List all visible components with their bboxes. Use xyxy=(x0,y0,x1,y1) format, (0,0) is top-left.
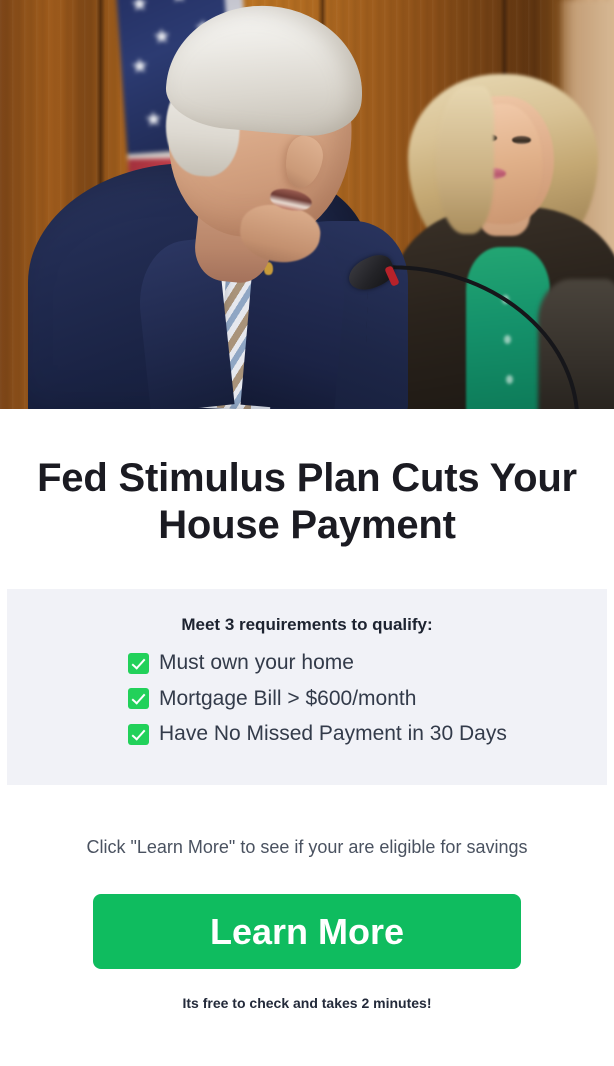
list-item: Must own your home xyxy=(128,649,607,677)
green-check-icon xyxy=(128,724,149,745)
requirement-label: Must own your home xyxy=(159,649,354,677)
learn-more-button[interactable]: Learn More xyxy=(93,894,521,969)
requirements-title: Meet 3 requirements to qualify: xyxy=(7,615,607,635)
flag-star-icon: ★ xyxy=(130,0,148,15)
flag-star-icon: ★ xyxy=(144,110,162,130)
cta-footnote: Its free to check and takes 2 minutes! xyxy=(0,969,614,1011)
press-conference-photo: ★ ★ ★ ★ ★ ★ ★ xyxy=(0,0,614,409)
hero-image: ★ ★ ★ ★ ★ ★ ★ xyxy=(0,0,614,409)
cta-container: Learn More xyxy=(0,858,614,969)
woman-hair-front xyxy=(436,86,494,234)
list-item: Mortgage Bill > $600/month xyxy=(128,685,607,713)
green-check-icon xyxy=(128,688,149,709)
flag-star-icon: ★ xyxy=(131,57,149,77)
list-item: Have No Missed Payment in 30 Days xyxy=(128,720,607,748)
green-check-icon xyxy=(128,653,149,674)
requirement-label: Mortgage Bill > $600/month xyxy=(159,685,416,713)
requirements-panel: Meet 3 requirements to qualify: Must own… xyxy=(7,589,607,785)
requirement-label: Have No Missed Payment in 30 Days xyxy=(159,720,507,748)
flag-star-icon: ★ xyxy=(153,27,171,47)
requirements-list: Must own your home Mortgage Bill > $600/… xyxy=(7,649,607,748)
page-title: Fed Stimulus Plan Cuts Your House Paymen… xyxy=(0,409,614,549)
flag-star-icon: ★ xyxy=(170,0,188,6)
woman-eye xyxy=(512,136,531,144)
cta-instruction-text: Click "Learn More" to see if your are el… xyxy=(0,785,614,858)
